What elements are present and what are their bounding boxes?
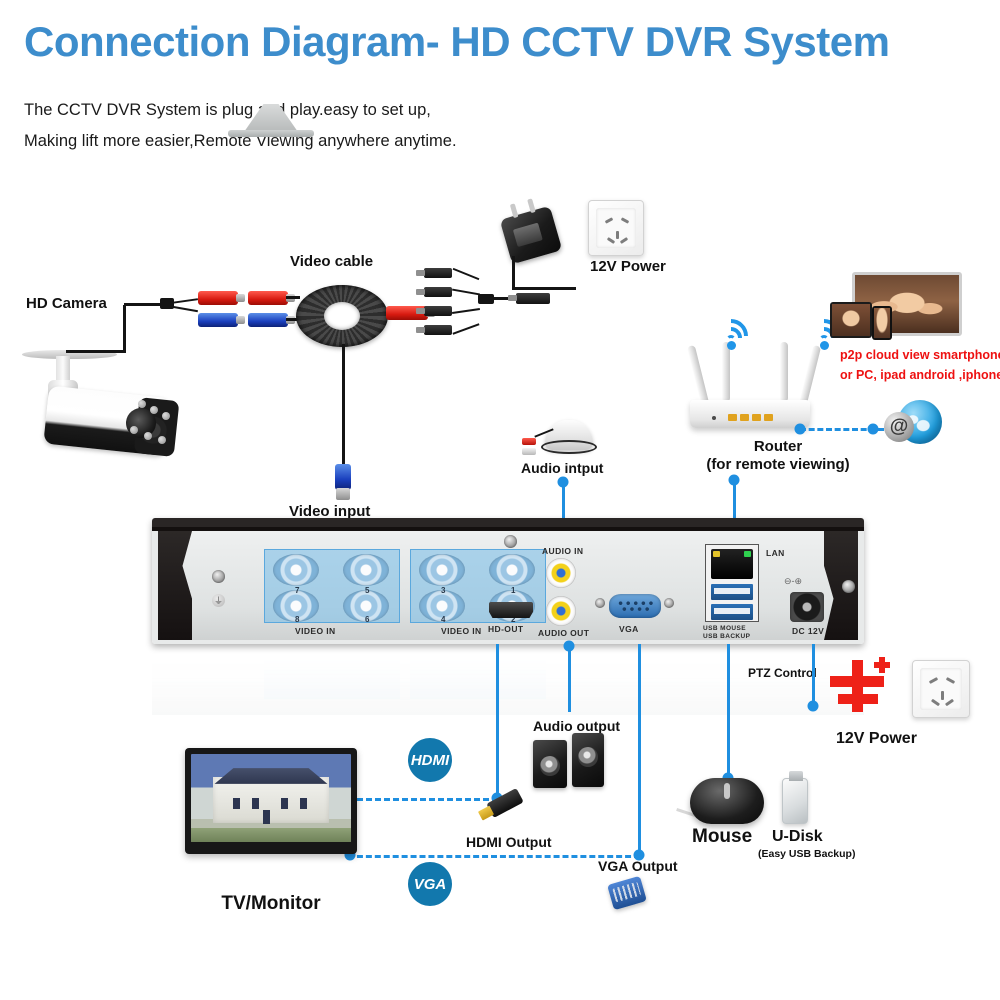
usb-mouse-route-vertical bbox=[727, 644, 730, 778]
wall-socket-bottom-icon bbox=[912, 660, 970, 718]
router-antenna-4 bbox=[799, 345, 821, 405]
mic-plug-white bbox=[522, 448, 536, 455]
ptz-control-label: PTZ Control bbox=[748, 666, 817, 680]
splitter-wire-1 bbox=[453, 268, 480, 280]
bnc-num-4: 4 bbox=[441, 615, 445, 624]
subtitle-line-1: The CCTV DVR System is plug and play.eas… bbox=[24, 101, 431, 120]
bnc-num-1: 1 bbox=[511, 586, 515, 595]
video-cable-label: Video cable bbox=[290, 253, 373, 270]
camera-wire-v bbox=[123, 305, 126, 353]
vga-screw-right bbox=[664, 598, 674, 608]
connection-diagram-page: Connection Diagram- HD CCTV DVR System T… bbox=[0, 0, 1000, 1000]
udisk-icon bbox=[782, 778, 808, 824]
hd-camera-label: HD Camera bbox=[26, 295, 107, 312]
audio-in-caption: AUDIO IN bbox=[542, 546, 583, 556]
udisk-sublabel: (Easy USB Backup) bbox=[758, 848, 855, 860]
monitor-base bbox=[228, 130, 314, 137]
power-12v-top-label: 12V Power bbox=[590, 258, 666, 275]
hd-out-caption: HD-OUT bbox=[488, 624, 523, 634]
camera-wire-h2 bbox=[124, 303, 164, 306]
power-plug-symbol-icon bbox=[830, 660, 892, 712]
video-in-caption-left: VIDEO IN bbox=[295, 626, 336, 636]
tv-monitor-icon bbox=[185, 748, 357, 854]
bnc-connector-blue-2 bbox=[248, 313, 288, 327]
bnc-num-8: 8 bbox=[295, 615, 299, 624]
dvr-rear-panel: ⏚ 7 5 8 6 VIDEO IN 3 1 4 2 VIDEO IN bbox=[152, 518, 864, 644]
wall-socket-top-icon bbox=[588, 200, 644, 256]
cloud-phone-device-icon bbox=[872, 306, 892, 340]
hdmi-route-dashed bbox=[348, 798, 498, 801]
bnc-num-7: 7 bbox=[295, 586, 299, 595]
at-sign-icon: @ bbox=[884, 412, 914, 442]
cloud-text-line-2: or PC, ipad android ,iphone. bbox=[840, 368, 1000, 382]
splitter-junction bbox=[478, 294, 494, 304]
video-input-bnc-metal bbox=[336, 488, 350, 500]
cloud-text-line-1: p2p cloud view smartphone bbox=[840, 348, 1000, 362]
video-input-drop-wire bbox=[342, 344, 345, 466]
panel-screw bbox=[212, 570, 225, 583]
audio-input-mic-icon bbox=[545, 420, 593, 450]
usb-mouse-port[interactable] bbox=[711, 584, 753, 600]
video-input-bnc bbox=[335, 464, 351, 490]
adapter-cord-v bbox=[512, 256, 515, 288]
dc-polarity-icon: ⊖‑⊕ bbox=[784, 576, 802, 587]
usb-backup-caption: USB BACKUP bbox=[703, 633, 750, 640]
ground-symbol-icon: ⏚ bbox=[212, 594, 225, 607]
bnc-port-3[interactable] bbox=[419, 554, 465, 586]
lan-port[interactable] bbox=[711, 549, 753, 579]
internet-dot-left bbox=[795, 424, 806, 435]
dc-splitter-plug-3 bbox=[424, 306, 452, 316]
vga-output-label: VGA Output bbox=[598, 858, 678, 874]
bnc-port-7[interactable] bbox=[273, 554, 319, 586]
dc-12v-port[interactable] bbox=[790, 592, 824, 622]
dc-power-dot bbox=[808, 701, 819, 712]
camera-wire-h bbox=[66, 350, 126, 353]
hdmi-output-label: HDMI Output bbox=[466, 834, 552, 850]
tv-monitor-label: TV/Monitor bbox=[221, 893, 320, 915]
dc-splitter-plug-4 bbox=[424, 325, 452, 335]
audio-output-label: Audio output bbox=[533, 718, 620, 734]
splitter-wire-4 bbox=[453, 323, 480, 334]
hdmi-badge: HDMI bbox=[408, 738, 452, 782]
audio-in-dot-top bbox=[558, 477, 569, 488]
panel-screw-right bbox=[842, 580, 855, 593]
audio-out-caption: AUDIO OUT bbox=[538, 628, 589, 638]
bnc-port-1[interactable] bbox=[489, 554, 535, 586]
cloud-tablet-device-icon bbox=[830, 302, 872, 338]
router-label: Router bbox=[754, 438, 802, 455]
bnc-port-5[interactable] bbox=[343, 554, 389, 586]
mic-plug-red bbox=[522, 438, 536, 445]
pigtail-blue bbox=[172, 306, 198, 312]
vga-port[interactable] bbox=[609, 594, 661, 618]
video-cable-coil-icon bbox=[296, 285, 388, 347]
bnc-connector-red-2 bbox=[248, 291, 288, 305]
hdmi-cable-icon bbox=[486, 788, 524, 818]
lan-usb-block bbox=[705, 544, 759, 622]
router-antenna-3 bbox=[780, 342, 788, 402]
bnc-connector-blue-1 bbox=[198, 313, 238, 327]
audio-out-dot bbox=[564, 641, 575, 652]
video-in-group-left: 7 5 8 6 bbox=[264, 549, 400, 623]
vga-route-vertical bbox=[638, 644, 641, 856]
power-12v-bottom-label: 12V Power bbox=[836, 730, 917, 748]
splitter-wire-3 bbox=[452, 308, 480, 314]
power-adapter-icon bbox=[500, 206, 563, 265]
internet-dot-right bbox=[868, 424, 879, 435]
udisk-label: U-Disk bbox=[772, 828, 823, 846]
dc-barrel-plug bbox=[516, 293, 550, 304]
audio-input-label: Audio intput bbox=[521, 460, 603, 476]
mouse-label: Mouse bbox=[692, 826, 752, 848]
audio-in-port[interactable] bbox=[546, 558, 576, 588]
hdmi-route-vertical bbox=[496, 644, 499, 799]
video-in-caption-right: VIDEO IN bbox=[441, 626, 482, 636]
bnc-num-5: 5 bbox=[365, 586, 369, 595]
page-title: Connection Diagram- HD CCTV DVR System bbox=[24, 18, 889, 66]
mouse-icon bbox=[690, 778, 764, 824]
router-icon bbox=[690, 400, 810, 428]
lan-caption: LAN bbox=[766, 548, 785, 558]
vga-cable-icon bbox=[607, 876, 647, 910]
speaker-left-icon bbox=[533, 740, 567, 788]
speaker-right-icon bbox=[572, 733, 604, 787]
vga-screw-left bbox=[595, 598, 605, 608]
audio-out-port[interactable] bbox=[546, 596, 576, 626]
dc-splitter-plug-2 bbox=[424, 287, 452, 297]
dc-12v-caption: DC 12V bbox=[792, 626, 824, 636]
splitter-wire-2 bbox=[452, 289, 480, 296]
bnc-num-3: 3 bbox=[441, 586, 445, 595]
router-sublabel: (for remote viewing) bbox=[706, 456, 849, 473]
router-antenna-1 bbox=[687, 345, 709, 405]
vga-route-dashed bbox=[348, 855, 640, 858]
vga-caption: VGA bbox=[619, 624, 639, 634]
usb-mouse-caption: USB MOUSE bbox=[703, 625, 746, 632]
audio-out-route-vertical bbox=[568, 644, 571, 712]
lan-dot-top bbox=[729, 475, 740, 486]
bnc-num-6: 6 bbox=[365, 615, 369, 624]
vga-badge: VGA bbox=[408, 862, 452, 906]
dc-splitter-plug-1 bbox=[424, 268, 452, 278]
usb-backup-port[interactable] bbox=[711, 604, 753, 620]
wifi-signal-icon-left bbox=[712, 305, 758, 351]
adapter-cord-h bbox=[512, 287, 576, 290]
pigtail-red bbox=[172, 298, 198, 304]
cable-link-red bbox=[286, 296, 300, 299]
bnc-connector-red-1 bbox=[198, 291, 238, 305]
dc-power-route-vertical bbox=[812, 644, 815, 708]
panel-screw-top bbox=[504, 535, 517, 548]
dvr-reflection bbox=[152, 645, 864, 715]
hd-out-port[interactable] bbox=[489, 602, 533, 618]
hd-camera-icon bbox=[18, 340, 198, 465]
